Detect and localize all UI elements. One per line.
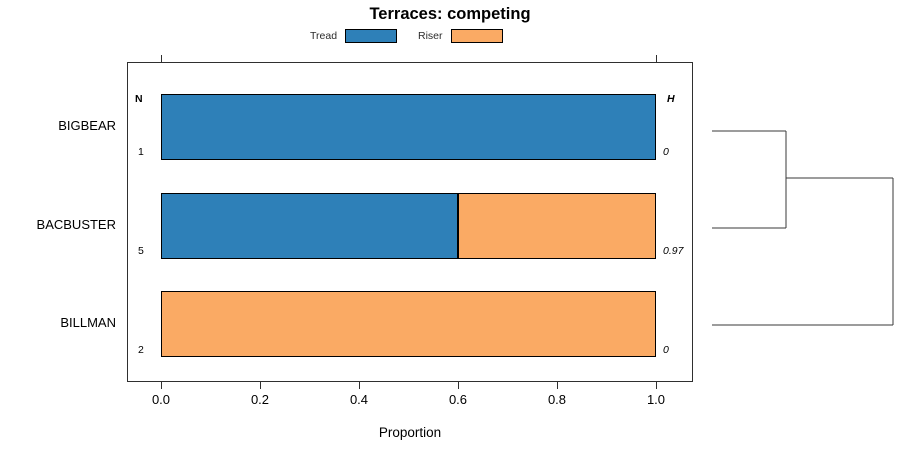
x-axis-tick: [359, 382, 360, 389]
x-axis-tick: [458, 382, 459, 389]
column-header-h: H: [667, 93, 675, 105]
x-axis-tick-label: 0.8: [537, 392, 577, 407]
category-label-bacbuster: BACBUSTER: [0, 217, 116, 232]
legend-swatch-riser-icon: [451, 29, 503, 43]
x-axis-tick: [260, 382, 261, 389]
axis-tick-top-max: [656, 55, 657, 62]
h-value-bigbear: 0: [663, 146, 669, 158]
n-value-bigbear: 1: [138, 146, 144, 158]
h-value-bacbuster: 0.97: [663, 245, 683, 257]
legend-item-riser[interactable]: Riser: [418, 26, 503, 46]
x-axis-tick-label: 1.0: [636, 392, 676, 407]
x-axis-tick: [557, 382, 558, 389]
category-label-billman: BILLMAN: [0, 315, 116, 330]
bar-segment-tread-bigbear[interactable]: [161, 94, 656, 160]
page-title: Terraces: competing: [0, 5, 900, 24]
legend-item-tread[interactable]: Tread: [310, 26, 397, 46]
x-axis-tick-label: 0.6: [438, 392, 478, 407]
category-label-bigbear: BIGBEAR: [0, 118, 116, 133]
x-axis-title: Proportion: [127, 425, 693, 440]
bar-segment-riser-bacbuster[interactable]: [458, 193, 656, 259]
x-axis-tick: [656, 382, 657, 389]
n-value-billman: 2: [138, 344, 144, 356]
legend-label-tread: Tread: [310, 30, 337, 42]
h-value-billman: 0: [663, 344, 669, 356]
chart-legend: Tread Riser: [310, 26, 600, 46]
chart-canvas: Terraces: competing Tread Riser N H BIGB…: [0, 0, 900, 460]
axis-tick-top-min: [161, 55, 162, 62]
column-header-n: N: [135, 93, 143, 105]
legend-label-riser: Riser: [418, 30, 443, 42]
legend-swatch-tread-icon: [345, 29, 397, 43]
n-value-bacbuster: 5: [138, 245, 144, 257]
dendrogram: [700, 62, 900, 382]
bar-segment-riser-billman[interactable]: [161, 291, 656, 357]
bar-segment-tread-bacbuster[interactable]: [161, 193, 458, 259]
x-axis-tick-label: 0.0: [141, 392, 181, 407]
x-axis-tick-label: 0.2: [240, 392, 280, 407]
x-axis-tick: [161, 382, 162, 389]
x-axis-tick-label: 0.4: [339, 392, 379, 407]
